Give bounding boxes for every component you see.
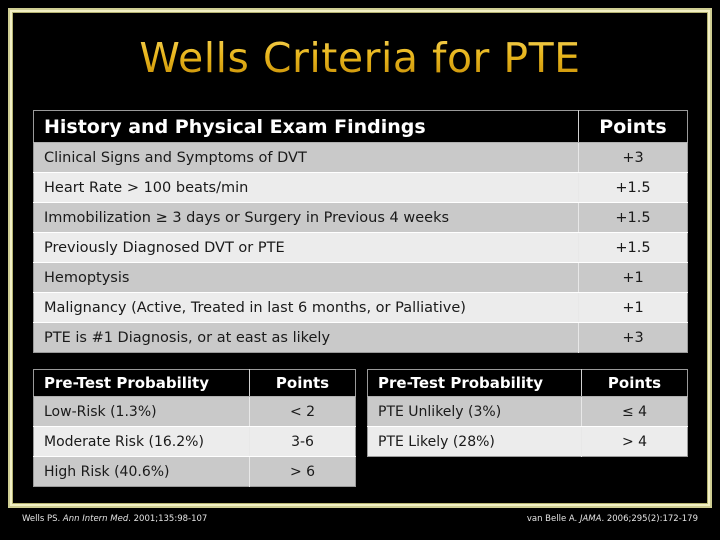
wells-criteria-table: History and Physical Exam Findings Point… — [33, 110, 688, 353]
table-row: PTE is #1 Diagnosis, or at east as likel… — [34, 323, 688, 353]
table-row: Moderate Risk (16.2%) 3-6 — [34, 427, 356, 457]
table-row: Hemoptysis +1 — [34, 263, 688, 293]
header-points: Points — [250, 370, 356, 397]
header-points: Points — [582, 370, 688, 397]
citation-author: van Belle A. — [527, 514, 580, 524]
main-table-body: Clinical Signs and Symptoms of DVT +3 He… — [34, 143, 688, 353]
table-row: PTE Likely (28%) > 4 — [368, 427, 688, 457]
right-table-body: PTE Unlikely (3%) ≤ 4 PTE Likely (28%) >… — [368, 397, 688, 457]
citation-vanbelle: van Belle A. JAMA. 2006;295(2):172-179 — [527, 514, 698, 524]
points-cell: +1.5 — [579, 203, 688, 233]
probability-cell: Moderate Risk (16.2%) — [34, 427, 250, 457]
table-row: Heart Rate > 100 beats/min +1.5 — [34, 173, 688, 203]
criteria-cell: Clinical Signs and Symptoms of DVT — [34, 143, 579, 173]
points-cell: ≤ 4 — [582, 397, 688, 427]
slide-title: Wells Criteria for PTE — [0, 36, 720, 81]
criteria-cell: Heart Rate > 100 beats/min — [34, 173, 579, 203]
table-row: Previously Diagnosed DVT or PTE +1.5 — [34, 233, 688, 263]
criteria-cell: Hemoptysis — [34, 263, 579, 293]
citation-wells: Wells PS. Ann Intern Med. 2001;135:98-10… — [22, 514, 207, 524]
pretest-probability-table-vanbelle: Pre-Test Probability Points PTE Unlikely… — [367, 369, 688, 457]
citation-journal: JAMA — [580, 514, 601, 524]
points-cell: +3 — [579, 143, 688, 173]
table-row: PTE Unlikely (3%) ≤ 4 — [368, 397, 688, 427]
probability-cell: PTE Unlikely (3%) — [368, 397, 582, 427]
table-row: Low-Risk (1.3%) < 2 — [34, 397, 356, 427]
table-header-row: Pre-Test Probability Points — [34, 370, 356, 397]
criteria-cell: Malignancy (Active, Treated in last 6 mo… — [34, 293, 579, 323]
header-probability: Pre-Test Probability — [34, 370, 250, 397]
right-table-header: Pre-Test Probability Points — [368, 370, 688, 397]
table-header-row: History and Physical Exam Findings Point… — [34, 111, 688, 143]
probability-cell: Low-Risk (1.3%) — [34, 397, 250, 427]
points-cell: > 6 — [250, 457, 356, 487]
citation-author: Wells PS. — [22, 514, 63, 524]
table-row: High Risk (40.6%) > 6 — [34, 457, 356, 487]
citation-journal: Ann Intern Med — [63, 514, 128, 524]
table-row: Clinical Signs and Symptoms of DVT +3 — [34, 143, 688, 173]
points-cell: < 2 — [250, 397, 356, 427]
criteria-cell: Immobilization ≥ 3 days or Surgery in Pr… — [34, 203, 579, 233]
header-probability: Pre-Test Probability — [368, 370, 582, 397]
slide-canvas: Wells Criteria for PTE History and Physi… — [0, 0, 720, 540]
footer-citations: Wells PS. Ann Intern Med. 2001;135:98-10… — [0, 514, 720, 534]
criteria-cell: Previously Diagnosed DVT or PTE — [34, 233, 579, 263]
table-row: Immobilization ≥ 3 days or Surgery in Pr… — [34, 203, 688, 233]
citation-detail: . 2001;135:98-107 — [128, 514, 207, 524]
probability-cell: PTE Likely (28%) — [368, 427, 582, 457]
table-header-row: Pre-Test Probability Points — [368, 370, 688, 397]
points-cell: +1 — [579, 293, 688, 323]
citation-detail: . 2006;295(2):172-179 — [601, 514, 698, 524]
main-table-header: History and Physical Exam Findings Point… — [34, 111, 688, 143]
points-cell: +1 — [579, 263, 688, 293]
pretest-probability-table-wells: Pre-Test Probability Points Low-Risk (1.… — [33, 369, 356, 487]
points-cell: +3 — [579, 323, 688, 353]
header-criteria: History and Physical Exam Findings — [34, 111, 579, 143]
left-table-body: Low-Risk (1.3%) < 2 Moderate Risk (16.2%… — [34, 397, 356, 487]
left-table-header: Pre-Test Probability Points — [34, 370, 356, 397]
points-cell: +1.5 — [579, 173, 688, 203]
header-points: Points — [579, 111, 688, 143]
table-row: Malignancy (Active, Treated in last 6 mo… — [34, 293, 688, 323]
criteria-cell: PTE is #1 Diagnosis, or at east as likel… — [34, 323, 579, 353]
points-cell: 3-6 — [250, 427, 356, 457]
points-cell: > 4 — [582, 427, 688, 457]
points-cell: +1.5 — [579, 233, 688, 263]
probability-cell: High Risk (40.6%) — [34, 457, 250, 487]
